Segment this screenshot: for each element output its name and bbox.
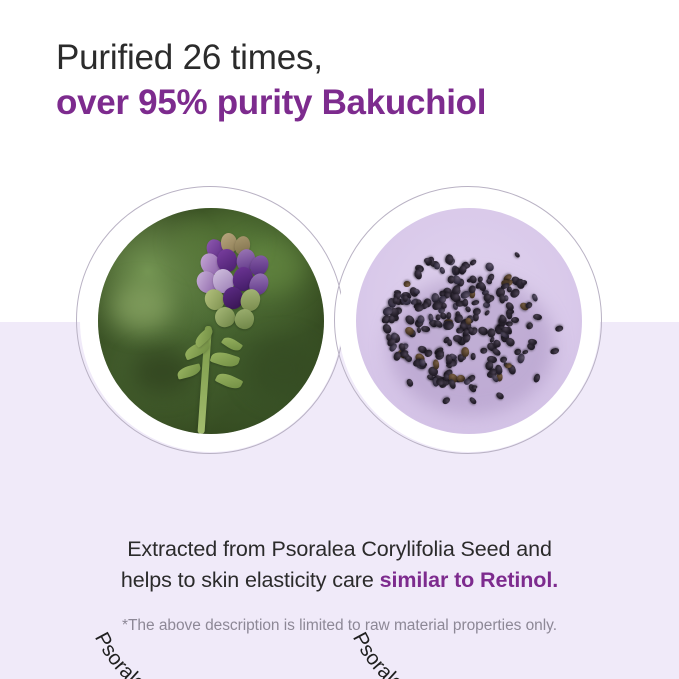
seed-pile: [356, 208, 582, 434]
headline-line-1: Purified 26 times,: [56, 36, 636, 80]
seed: [439, 266, 446, 274]
description-line-2: helps to skin elasticity care similar to…: [0, 565, 679, 596]
seed: [480, 348, 488, 354]
plant-bract: [214, 370, 243, 392]
seed: [457, 354, 464, 362]
psoralea-seed-photo: [356, 208, 582, 434]
description-block: Extracted from Psoralea Corylifolia Seed…: [0, 534, 679, 596]
seed: [445, 311, 451, 319]
seed: [487, 328, 496, 338]
seed: [514, 252, 522, 260]
description-line-2-highlight: similar to Retinol.: [380, 568, 559, 592]
seed: [468, 396, 477, 405]
seed-photo-disc: [356, 208, 582, 434]
seed: [471, 353, 476, 360]
seed: [495, 391, 505, 401]
description-line-1: Extracted from Psoralea Corylifolia Seed…: [0, 534, 679, 565]
seed: [404, 281, 411, 287]
seed: [432, 359, 439, 369]
psoralea-leaf-photo: [98, 208, 324, 434]
bokeh-blob: [112, 285, 170, 331]
seed: [459, 265, 467, 274]
ingredient-circles: Psoralea Corylifolia Leaf Psoralea Coryl…: [0, 186, 679, 506]
footnote-disclaimer: *The above description is limited to raw…: [0, 617, 679, 635]
seed: [406, 378, 414, 388]
seed: [406, 356, 413, 363]
seed: [484, 261, 496, 273]
plant-bract: [210, 349, 241, 370]
seed: [446, 339, 452, 347]
bokeh-blob: [247, 339, 317, 399]
flower-spike: [193, 233, 277, 341]
seed: [424, 349, 434, 358]
seed: [470, 299, 479, 306]
seed: [442, 320, 454, 332]
seed: [495, 364, 504, 375]
leaf-photo-disc: [98, 208, 324, 434]
seed: [554, 324, 564, 332]
seed: [533, 313, 543, 321]
seed: [441, 396, 451, 406]
seed: [499, 295, 505, 304]
ingredient-circle-seed: [334, 186, 604, 456]
infographic-page: Purified 26 times, over 95% purity Bakuc…: [0, 0, 679, 679]
seed: [483, 310, 490, 317]
headline-line-2: over 95% purity Bakuchiol: [56, 80, 636, 126]
seed: [550, 347, 560, 355]
seed: [421, 325, 431, 333]
ingredient-circle-leaf: [76, 186, 346, 456]
seed: [418, 315, 426, 324]
description-line-2-plain: helps to skin elasticity care: [121, 568, 380, 592]
seed: [532, 373, 541, 384]
seed: [472, 307, 482, 316]
page-title: Purified 26 times, over 95% purity Bakuc…: [56, 36, 636, 126]
seed: [531, 293, 538, 302]
